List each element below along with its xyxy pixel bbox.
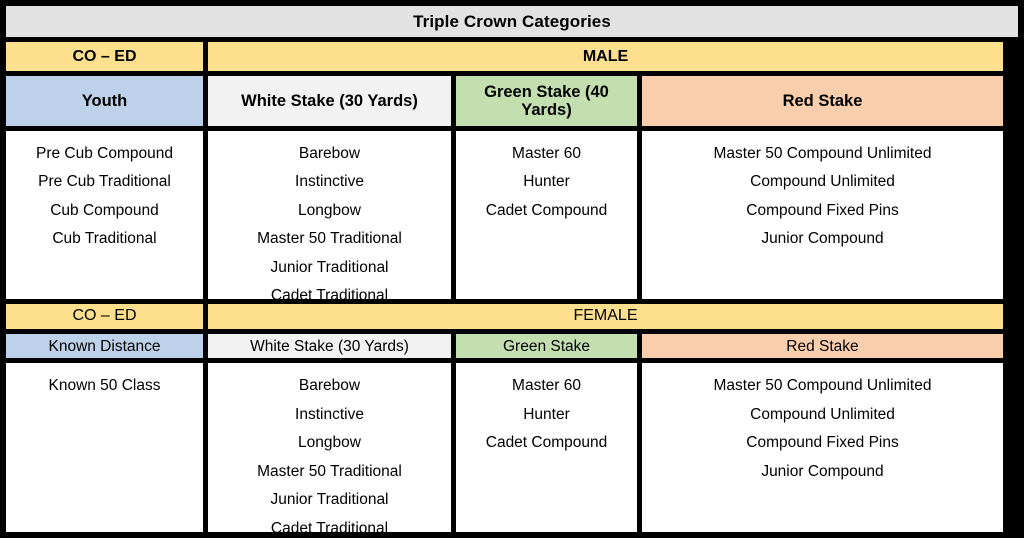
category-item: Instinctive xyxy=(208,168,451,197)
category-item: Compound Unlimited xyxy=(642,168,1003,197)
female-cell-red-stake: Master 50 Compound UnlimitedCompound Unl… xyxy=(642,363,1003,532)
male-gender-label: MALE xyxy=(208,42,1003,71)
category-item: Barebow xyxy=(208,140,451,169)
category-item: Junior Traditional xyxy=(208,486,451,515)
male-cell-youth: Pre Cub CompoundPre Cub TraditionalCub C… xyxy=(6,131,203,299)
male-cell-red-stake: Master 50 Compound UnlimitedCompound Unl… xyxy=(642,131,1003,299)
male-stake-header-row: Youth White Stake (30 Yards) Green Stake… xyxy=(6,76,1018,125)
category-item: Master 60 xyxy=(456,372,637,401)
category-item: Master 50 Traditional xyxy=(208,225,451,254)
table-title-row: Triple Crown Categories xyxy=(6,6,1018,37)
female-list-white-stake: BarebowInstinctiveLongbowMaster 50 Tradi… xyxy=(208,372,451,532)
male-list-youth: Pre Cub CompoundPre Cub TraditionalCub C… xyxy=(6,140,203,254)
female-list-green-stake: Master 60HunterCadet Compound xyxy=(456,372,637,458)
category-item: Cadet Compound xyxy=(456,429,637,458)
category-item: Master 50 Compound Unlimited xyxy=(642,140,1003,169)
male-header-white-stake: White Stake (30 Yards) xyxy=(208,76,451,125)
male-body-row: Pre Cub CompoundPre Cub TraditionalCub C… xyxy=(6,131,1018,299)
category-item: Junior Traditional xyxy=(208,254,451,283)
male-coed-label: CO – ED xyxy=(6,42,203,71)
table-title: Triple Crown Categories xyxy=(6,6,1018,37)
male-cell-white-stake: BarebowInstinctiveLongbowMaster 50 Tradi… xyxy=(208,131,451,299)
category-item: Longbow xyxy=(208,197,451,226)
category-item: Junior Compound xyxy=(642,225,1003,254)
female-list-red-stake: Master 50 Compound UnlimitedCompound Unl… xyxy=(642,372,1003,486)
category-item: Compound Fixed Pins xyxy=(642,197,1003,226)
male-gender-row: CO – ED MALE xyxy=(6,42,1018,71)
female-stake-header-row: Known Distance White Stake (30 Yards) Gr… xyxy=(6,334,1018,358)
male-header-red-stake: Red Stake xyxy=(642,76,1003,125)
category-item: Known 50 Class xyxy=(6,372,203,401)
male-header-youth: Youth xyxy=(6,76,203,125)
category-item: Cadet Compound xyxy=(456,197,637,226)
female-list-known-distance: Known 50 Class xyxy=(6,372,203,401)
category-item: Compound Fixed Pins xyxy=(642,429,1003,458)
female-gender-row: CO – ED FEMALE xyxy=(6,304,1018,330)
male-list-green-stake: Master 60HunterCadet Compound xyxy=(456,140,637,226)
female-body-row: Known 50 Class BarebowInstinctiveLongbow… xyxy=(6,363,1018,532)
triple-crown-table: Triple Crown Categories CO – ED MALE You… xyxy=(0,0,1024,538)
category-item: Compound Unlimited xyxy=(642,401,1003,430)
category-item: Junior Compound xyxy=(642,458,1003,487)
category-item: Barebow xyxy=(208,372,451,401)
female-cell-known-distance: Known 50 Class xyxy=(6,363,203,532)
category-item: Hunter xyxy=(456,401,637,430)
male-list-red-stake: Master 50 Compound UnlimitedCompound Unl… xyxy=(642,140,1003,254)
category-item: Cadet Traditional xyxy=(208,282,451,299)
female-coed-label: CO – ED xyxy=(6,304,203,330)
female-header-green-stake: Green Stake xyxy=(456,334,637,358)
male-list-white-stake: BarebowInstinctiveLongbowMaster 50 Tradi… xyxy=(208,140,451,299)
category-item: Master 60 xyxy=(456,140,637,169)
female-header-white-stake: White Stake (30 Yards) xyxy=(208,334,451,358)
female-cell-white-stake: BarebowInstinctiveLongbowMaster 50 Tradi… xyxy=(208,363,451,532)
male-header-green-stake: Green Stake (40 Yards) xyxy=(456,76,637,125)
category-item: Longbow xyxy=(208,429,451,458)
category-item: Hunter xyxy=(456,168,637,197)
category-item: Pre Cub Traditional xyxy=(6,168,203,197)
female-cell-green-stake: Master 60HunterCadet Compound xyxy=(456,363,637,532)
category-item: Master 50 Traditional xyxy=(208,458,451,487)
female-header-red-stake: Red Stake xyxy=(642,334,1003,358)
category-item: Cub Compound xyxy=(6,197,203,226)
male-cell-green-stake: Master 60HunterCadet Compound xyxy=(456,131,637,299)
category-item: Cub Traditional xyxy=(6,225,203,254)
category-item: Cadet Traditional xyxy=(208,515,451,533)
female-header-known-distance: Known Distance xyxy=(6,334,203,358)
category-item: Pre Cub Compound xyxy=(6,140,203,169)
female-gender-label: FEMALE xyxy=(208,304,1003,330)
category-item: Instinctive xyxy=(208,401,451,430)
category-item: Master 50 Compound Unlimited xyxy=(642,372,1003,401)
